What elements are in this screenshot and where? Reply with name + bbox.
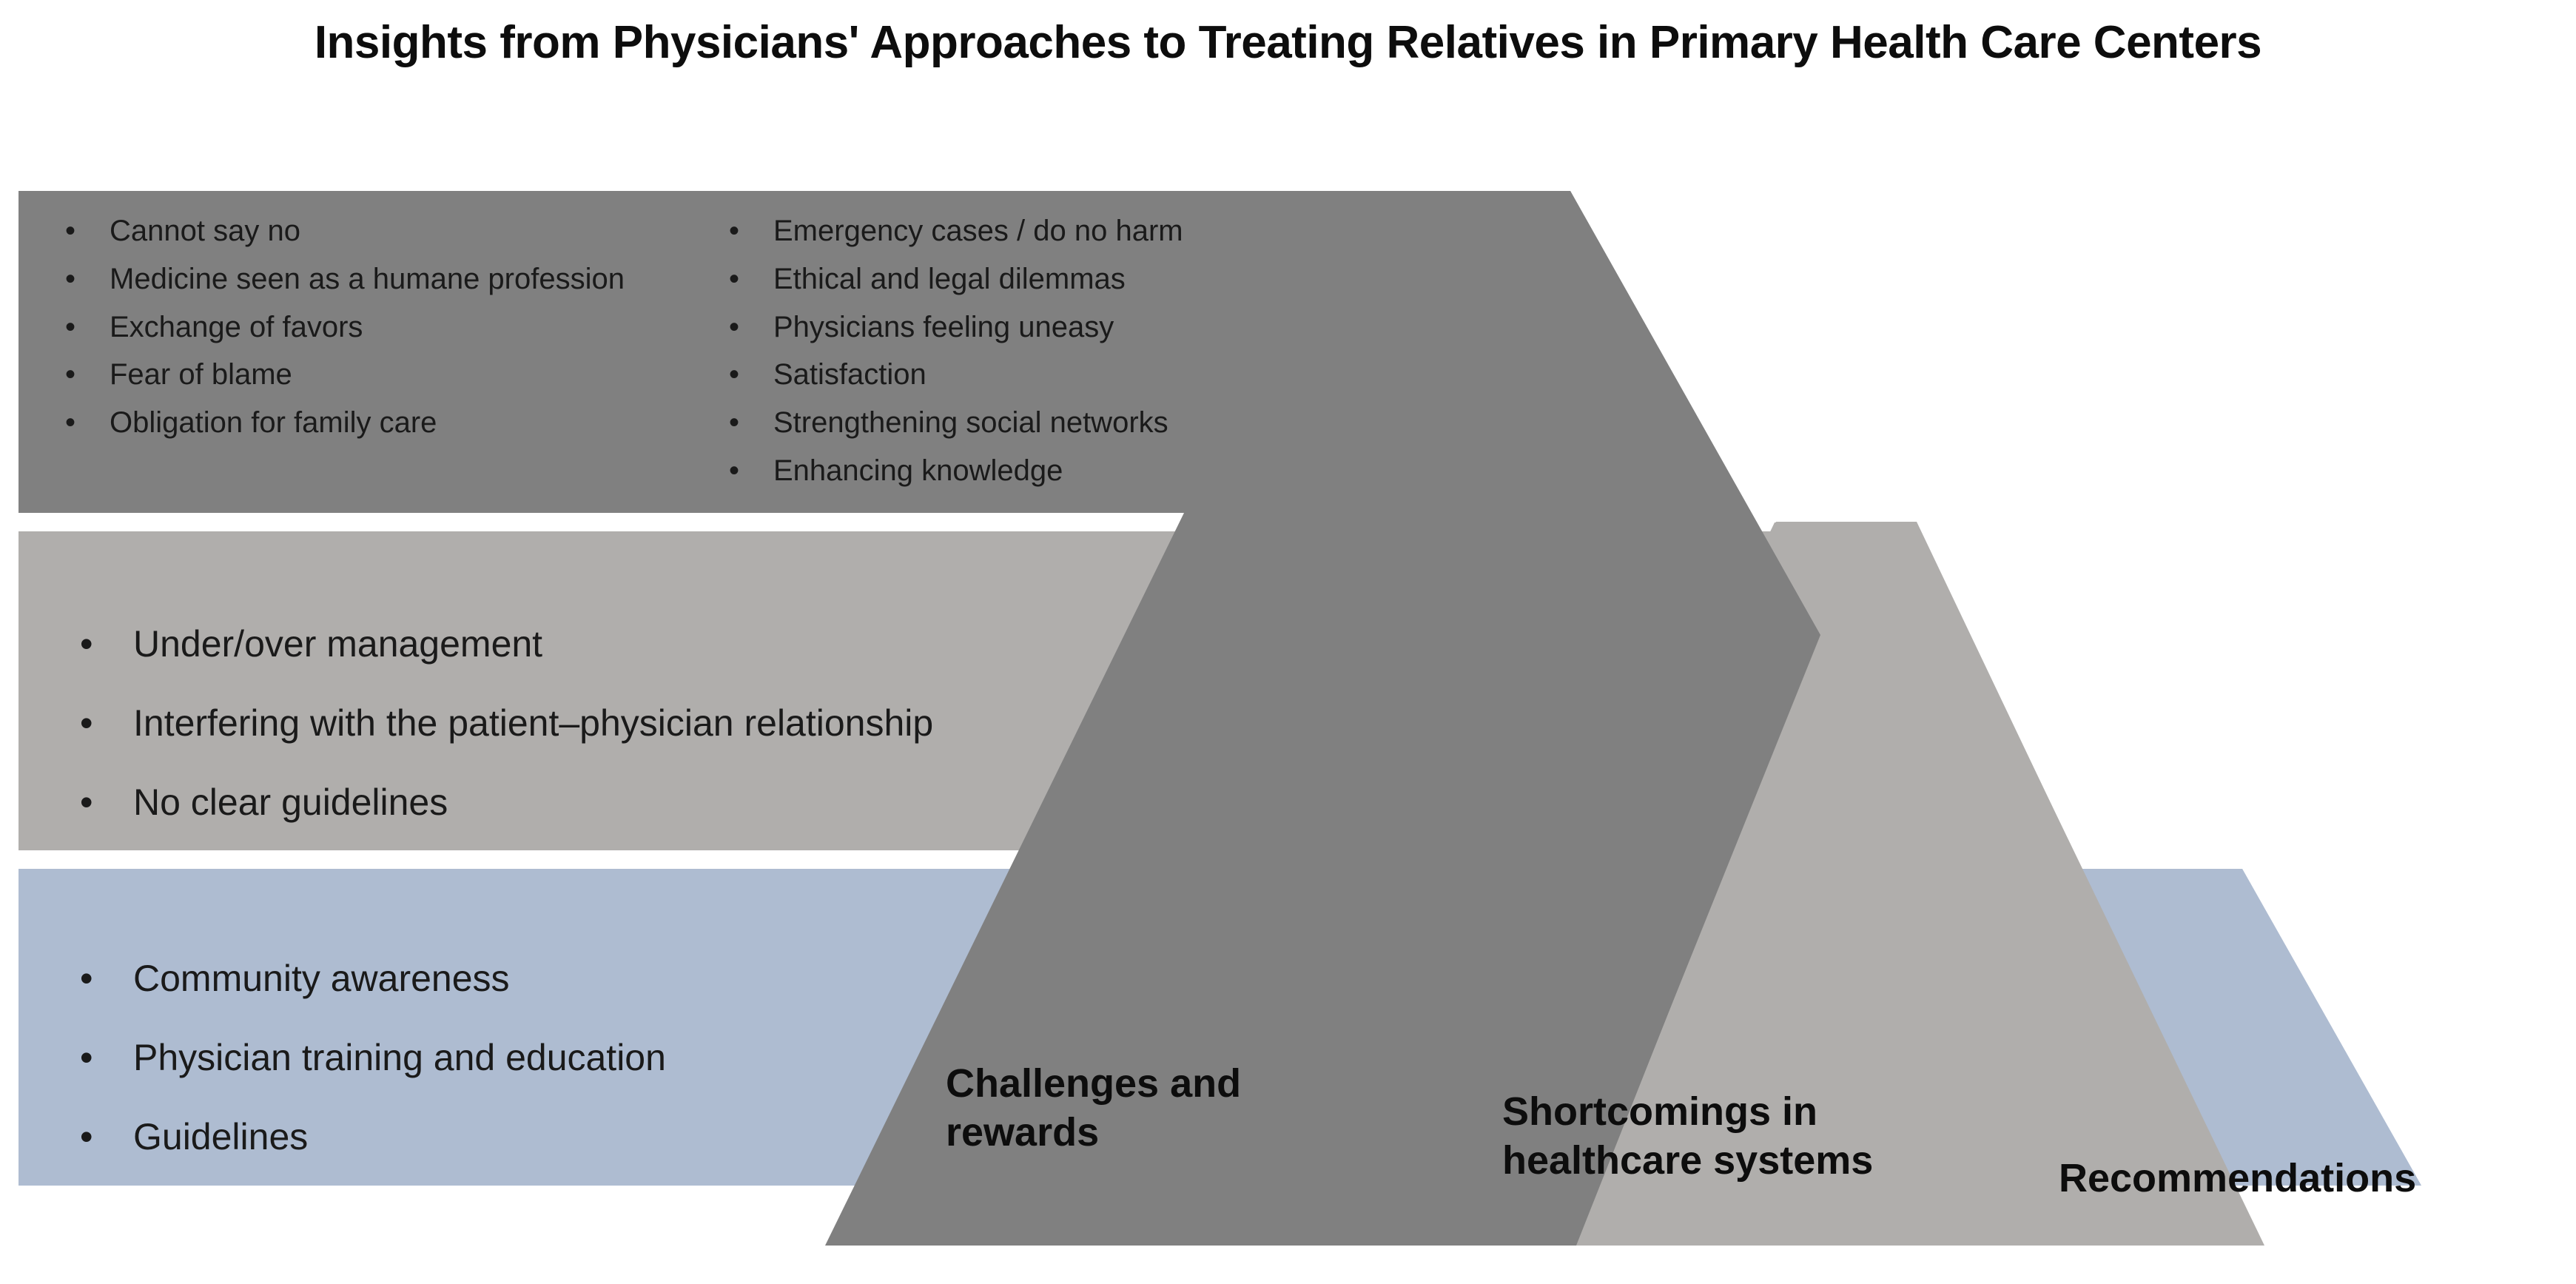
list-item-label: Physician training and education: [80, 1032, 666, 1084]
bullet-icon: •: [65, 402, 101, 444]
list-item-label: Physicians feeling uneasy: [729, 306, 1114, 349]
bullet-icon: •: [80, 776, 124, 829]
list-item-label: Obligation for family care: [65, 402, 437, 444]
bullet-icon: •: [729, 210, 764, 252]
stage-label-challenges: Challenges and rewards: [946, 1060, 1264, 1157]
bullet-icon: •: [80, 952, 124, 1005]
bullet-list-challenges-left: •Cannot say no •Medicine seen as a human…: [65, 210, 702, 450]
list-item-label: Exchange of favors: [65, 306, 363, 349]
stage-label-challenges-line1: Challenges and: [946, 1060, 1264, 1109]
bullet-icon: •: [65, 210, 101, 252]
diagram-canvas: Insights from Physicians' Approaches to …: [0, 0, 2576, 1284]
list-item: •Physicians feeling uneasy: [729, 306, 1395, 349]
bullet-icon: •: [729, 354, 764, 396]
list-item: •Cannot say no: [65, 210, 702, 252]
bullet-icon: •: [729, 450, 764, 492]
stage-label-shortcomings-line2: healthcare systems: [1502, 1137, 1917, 1186]
list-item: •Ethical and legal dilemmas: [729, 258, 1395, 300]
list-item: •Exchange of favors: [65, 306, 702, 349]
list-item: •Obligation for family care: [65, 402, 702, 444]
list-item: •Fear of blame: [65, 354, 702, 396]
list-item-label: Medicine seen as a humane profession: [65, 258, 625, 300]
bullet-icon: •: [80, 1111, 124, 1163]
list-item: •Enhancing knowledge: [729, 450, 1395, 492]
list-item: •Satisfaction: [729, 354, 1395, 396]
bullet-list-challenges-right: •Emergency cases / do no harm •Ethical a…: [729, 210, 1395, 498]
list-item: •Strengthening social networks: [729, 402, 1395, 444]
list-item-label: Interfering with the patient–physician r…: [80, 697, 933, 750]
list-item: •Under/over management: [80, 618, 1338, 670]
bullet-icon: •: [729, 258, 764, 300]
list-item-label: Community awareness: [80, 952, 510, 1005]
list-item: •No clear guidelines: [80, 776, 1338, 829]
list-item-label: Emergency cases / do no harm: [729, 210, 1183, 252]
bullet-icon: •: [65, 354, 101, 396]
list-item-label: No clear guidelines: [80, 776, 448, 829]
bullet-icon: •: [729, 402, 764, 444]
bullet-icon: •: [729, 306, 764, 349]
list-item: •Medicine seen as a humane profession: [65, 258, 702, 300]
stage-label-shortcomings-line1: Shortcomings in: [1502, 1088, 1917, 1137]
list-item-label: Under/over management: [80, 618, 542, 670]
list-item-label: Enhancing knowledge: [729, 450, 1063, 492]
stage-label-recommendations: Recommendations: [2059, 1154, 2576, 1203]
bullet-list-shortcomings: •Under/over management •Interfering with…: [80, 618, 1338, 856]
list-item: •Emergency cases / do no harm: [729, 210, 1395, 252]
stage-label-challenges-line2: rewards: [946, 1109, 1264, 1157]
stage-label-shortcomings: Shortcomings in healthcare systems: [1502, 1088, 1917, 1186]
bullet-icon: •: [80, 697, 124, 750]
bullet-icon: •: [65, 258, 101, 300]
list-item: •Community awareness: [80, 952, 1116, 1005]
list-item-label: Strengthening social networks: [729, 402, 1168, 444]
list-item-label: Ethical and legal dilemmas: [729, 258, 1126, 300]
bullet-icon: •: [65, 306, 101, 349]
bullet-icon: •: [80, 618, 124, 670]
bullet-icon: •: [80, 1032, 124, 1084]
list-item: •Interfering with the patient–physician …: [80, 697, 1338, 750]
